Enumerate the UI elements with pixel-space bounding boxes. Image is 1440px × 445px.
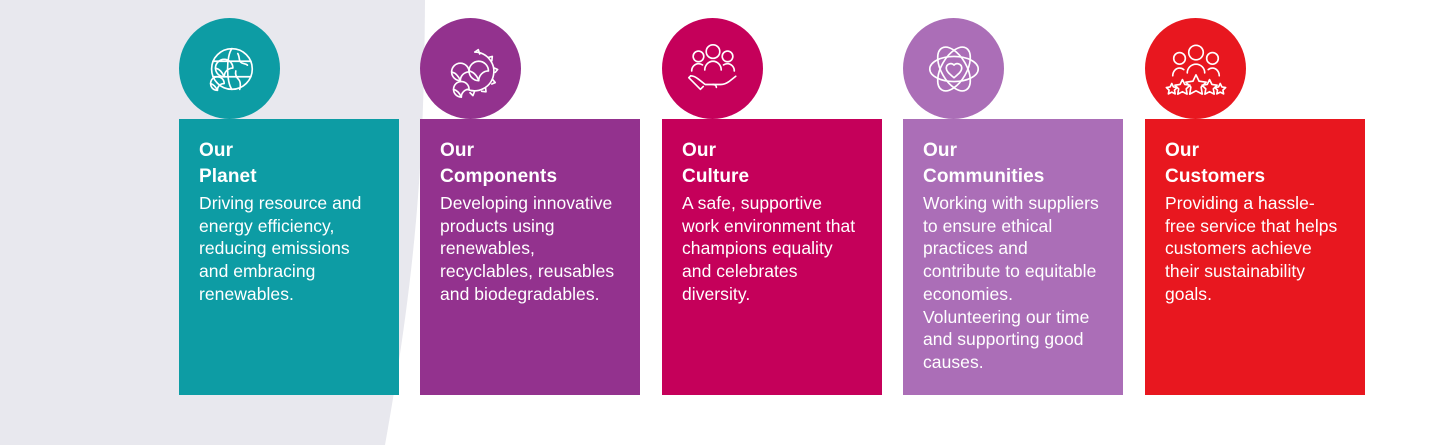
pillar-topic: Planet [199, 164, 379, 190]
pillar-topic: Customers [1165, 164, 1345, 190]
pillar-panel-planet: Our Planet Driving resource and energy e… [179, 119, 399, 395]
pillar-description: Driving resource and energy efficiency, … [199, 192, 379, 306]
gear-leaf-icon [440, 38, 502, 100]
pillar-panel-culture: Our Culture A safe, supportive work envi… [662, 119, 882, 395]
pillar-icon-badge-components [420, 18, 521, 119]
pillar-card-culture[interactable]: Our Culture A safe, supportive work envi… [662, 0, 882, 395]
pillar-description: Developing innovative products using ren… [440, 192, 620, 306]
pillar-icon-badge-communities [903, 18, 1004, 119]
pillars-row: Our Planet Driving resource and energy e… [179, 0, 1369, 445]
people-stars-icon [1165, 38, 1227, 100]
pillar-panel-communities: Our Communities Working with suppliers t… [903, 119, 1123, 395]
pillar-kicker: Our [682, 138, 862, 164]
pillar-icon-badge-customers [1145, 18, 1246, 119]
pillar-kicker: Our [199, 138, 379, 164]
sustainability-pillars-graphic: Our Planet Driving resource and energy e… [0, 0, 1440, 445]
pillar-panel-components: Our Components Developing innovative pro… [420, 119, 640, 395]
pillar-card-planet[interactable]: Our Planet Driving resource and energy e… [179, 0, 399, 395]
pillar-description: A safe, supportive work environment that… [682, 192, 862, 306]
pillar-icon-badge-planet [179, 18, 280, 119]
people-in-hand-icon [682, 38, 744, 100]
pillar-kicker: Our [440, 138, 620, 164]
pillar-description: Providing a hassle-free service that hel… [1165, 192, 1345, 306]
pillar-kicker: Our [1165, 138, 1345, 164]
pillar-card-components[interactable]: Our Components Developing innovative pro… [420, 0, 640, 395]
pillar-topic: Communities [923, 164, 1103, 190]
pillar-topic: Components [440, 164, 620, 190]
pillar-icon-badge-culture [662, 18, 763, 119]
pillar-panel-customers: Our Customers Providing a hassle-free se… [1145, 119, 1365, 395]
globe-leaf-icon [199, 38, 261, 100]
pillar-kicker: Our [923, 138, 1103, 164]
pillar-card-customers[interactable]: Our Customers Providing a hassle-free se… [1145, 0, 1365, 395]
pillar-card-communities[interactable]: Our Communities Working with suppliers t… [903, 0, 1123, 395]
heart-atom-icon [923, 38, 985, 100]
pillar-topic: Culture [682, 164, 862, 190]
pillar-description: Working with suppliers to ensure ethical… [923, 192, 1103, 374]
